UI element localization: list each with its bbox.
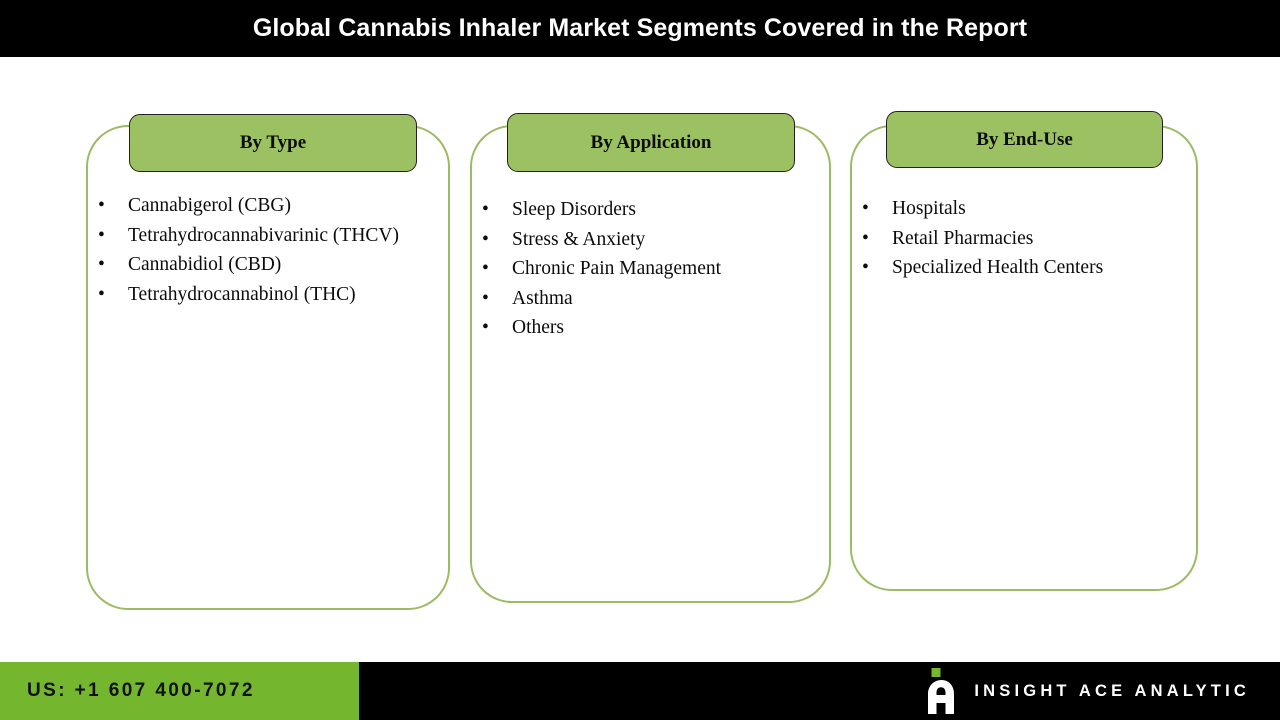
footer-phone-block: US: +1 607 400-7072 (0, 662, 359, 720)
list-item-label: Asthma (512, 288, 573, 309)
bullet-icon: • (98, 191, 105, 220)
bullet-icon: • (98, 280, 105, 309)
title-bar: Global Cannabis Inhaler Market Segments … (0, 0, 1280, 57)
list-item: • Chronic Pain Management (470, 254, 830, 283)
list-item: • Others (470, 313, 830, 342)
list-item: • Tetrahydrocannabivarinic (THCV) (86, 221, 446, 250)
page-title: Global Cannabis Inhaler Market Segments … (0, 0, 1280, 57)
list-item-label: Tetrahydrocannabivarinic (THCV) (128, 225, 399, 246)
list-item-label: Sleep Disorders (512, 199, 636, 220)
bullet-icon: • (862, 224, 869, 253)
bullet-icon: • (98, 250, 105, 279)
list-item: • Sleep Disorders (470, 195, 830, 224)
brand-name-text: INSIGHT ACE ANALYTIC (974, 682, 1250, 701)
list-item-label: Specialized Health Centers (892, 257, 1103, 278)
segment-heading-by-application: By Application (507, 113, 795, 172)
segment-heading-by-type: By Type (129, 114, 417, 172)
footer-phone-number: US: +1 607 400-7072 (27, 662, 255, 720)
list-item-label: Hospitals (892, 198, 966, 219)
list-item-label: Stress & Anxiety (512, 229, 645, 250)
list-item: • Cannabidiol (CBD) (86, 250, 446, 279)
list-item-label: Cannabigerol (CBG) (128, 195, 291, 216)
list-item: • Hospitals (850, 194, 1195, 223)
segment-list-by-type: • Cannabigerol (CBG) • Tetrahydrocannabi… (86, 191, 446, 309)
insightace-a-logo-icon (923, 668, 957, 714)
bullet-icon: • (482, 284, 489, 313)
segment-heading-by-end-use: By End-Use (886, 111, 1163, 168)
list-item: • Stress & Anxiety (470, 225, 830, 254)
list-item: • Tetrahydrocannabinol (THC) (86, 280, 446, 309)
footer-bar: US: +1 607 400-7072 INSIGHT ACE ANALYTIC (0, 662, 1280, 720)
brand-lockup: INSIGHT ACE ANALYTIC (923, 662, 1250, 720)
bullet-icon: • (482, 195, 489, 224)
list-item: • Specialized Health Centers (850, 253, 1195, 282)
segments-canvas: By Type • Cannabigerol (CBG) • Tetrahydr… (0, 57, 1280, 662)
bullet-icon: • (482, 254, 489, 283)
list-item-label: Tetrahydrocannabinol (THC) (128, 284, 356, 305)
list-item-label: Cannabidiol (CBD) (128, 254, 281, 275)
bullet-icon: • (482, 225, 489, 254)
list-item-label: Others (512, 317, 564, 338)
list-item: • Retail Pharmacies (850, 224, 1195, 253)
list-item-label: Chronic Pain Management (512, 258, 721, 279)
list-item: • Asthma (470, 284, 830, 313)
bullet-icon: • (862, 253, 869, 282)
bullet-icon: • (482, 313, 489, 342)
list-item: • Cannabigerol (CBG) (86, 191, 446, 220)
bullet-icon: • (862, 194, 869, 223)
bullet-icon: • (98, 221, 105, 250)
list-item-label: Retail Pharmacies (892, 228, 1033, 249)
segment-list-by-end-use: • Hospitals • Retail Pharmacies • Specia… (850, 194, 1195, 283)
segment-list-by-application: • Sleep Disorders • Stress & Anxiety • C… (470, 195, 830, 343)
